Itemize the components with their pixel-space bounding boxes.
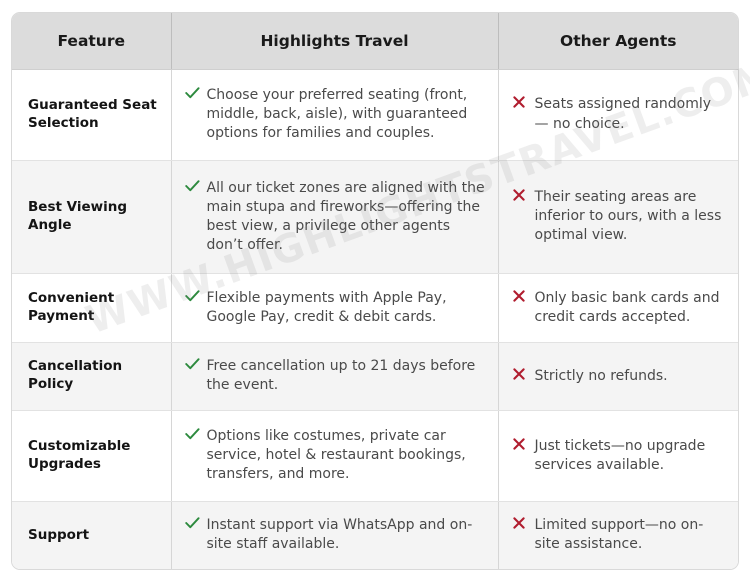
check-icon xyxy=(185,428,200,446)
feature-label: Customizable Upgrades xyxy=(12,410,171,501)
other-agents-cell: Seats assigned randomly — no choice. xyxy=(498,69,738,160)
comparison-table-container: Feature Highlights Travel Other Agents G… xyxy=(11,12,739,570)
table-row: Convenient PaymentFlexible payments with… xyxy=(12,274,738,342)
highlights-travel-cell: All our ticket zones are aligned with th… xyxy=(171,160,498,274)
comparison-table: Feature Highlights Travel Other Agents G… xyxy=(12,13,738,569)
table-row: Guaranteed Seat SelectionChoose your pre… xyxy=(12,69,738,160)
check-icon xyxy=(185,517,200,535)
highlights-travel-cell: Options like costumes, private car servi… xyxy=(171,410,498,501)
highlights-travel-text: Choose your preferred seating (front, mi… xyxy=(207,86,488,143)
other-agents-text: Only basic bank cards and credit cards a… xyxy=(535,289,729,327)
cross-icon xyxy=(513,96,528,114)
other-agents-text: Seats assigned randomly — no choice. xyxy=(535,95,729,133)
feature-label: Support xyxy=(12,501,171,569)
check-icon xyxy=(185,290,200,308)
highlights-travel-text: Free cancellation up to 21 days before t… xyxy=(207,357,488,395)
table-row: Cancellation PolicyFree cancellation up … xyxy=(12,342,738,410)
cross-icon xyxy=(513,517,528,535)
other-agents-text: Just tickets—no upgrade services availab… xyxy=(535,437,729,475)
table-row: SupportInstant support via WhatsApp and … xyxy=(12,501,738,569)
highlights-travel-text: All our ticket zones are aligned with th… xyxy=(207,179,488,255)
highlights-travel-cell: Choose your preferred seating (front, mi… xyxy=(171,69,498,160)
cross-icon xyxy=(513,368,528,386)
other-agents-text: Strictly no refunds. xyxy=(535,367,729,386)
highlights-travel-text: Flexible payments with Apple Pay, Google… xyxy=(207,289,488,327)
highlights-travel-cell: Free cancellation up to 21 days before t… xyxy=(171,342,498,410)
other-agents-cell: Only basic bank cards and credit cards a… xyxy=(498,274,738,342)
highlights-travel-text: Options like costumes, private car servi… xyxy=(207,427,488,484)
cross-icon xyxy=(513,189,528,207)
header-row: Feature Highlights Travel Other Agents xyxy=(12,13,738,69)
other-agents-text: Their seating areas are inferior to ours… xyxy=(535,188,729,245)
check-icon xyxy=(185,87,200,105)
other-agents-cell: Just tickets—no upgrade services availab… xyxy=(498,410,738,501)
table-body: Guaranteed Seat SelectionChoose your pre… xyxy=(12,69,738,569)
feature-label: Convenient Payment xyxy=(12,274,171,342)
other-agents-text: Limited support—no on-site assistance. xyxy=(535,516,729,554)
feature-label: Cancellation Policy xyxy=(12,342,171,410)
feature-label: Guaranteed Seat Selection xyxy=(12,69,171,160)
table-row: Best Viewing AngleAll our ticket zones a… xyxy=(12,160,738,274)
table-header: Feature Highlights Travel Other Agents xyxy=(12,13,738,69)
highlights-travel-text: Instant support via WhatsApp and on-site… xyxy=(207,516,488,554)
highlights-travel-cell: Instant support via WhatsApp and on-site… xyxy=(171,501,498,569)
header-other-agents: Other Agents xyxy=(498,13,738,69)
cross-icon xyxy=(513,290,528,308)
other-agents-cell: Strictly no refunds. xyxy=(498,342,738,410)
check-icon xyxy=(185,358,200,376)
feature-label: Best Viewing Angle xyxy=(12,160,171,274)
other-agents-cell: Limited support—no on-site assistance. xyxy=(498,501,738,569)
check-icon xyxy=(185,180,200,198)
table-row: Customizable UpgradesOptions like costum… xyxy=(12,410,738,501)
header-feature: Feature xyxy=(12,13,171,69)
other-agents-cell: Their seating areas are inferior to ours… xyxy=(498,160,738,274)
cross-icon xyxy=(513,438,528,456)
header-highlights-travel: Highlights Travel xyxy=(171,13,498,69)
highlights-travel-cell: Flexible payments with Apple Pay, Google… xyxy=(171,274,498,342)
comparison-table-page: WWW.HIGHLIGHTSTRAVEL.COM Feature Highlig… xyxy=(0,0,750,579)
